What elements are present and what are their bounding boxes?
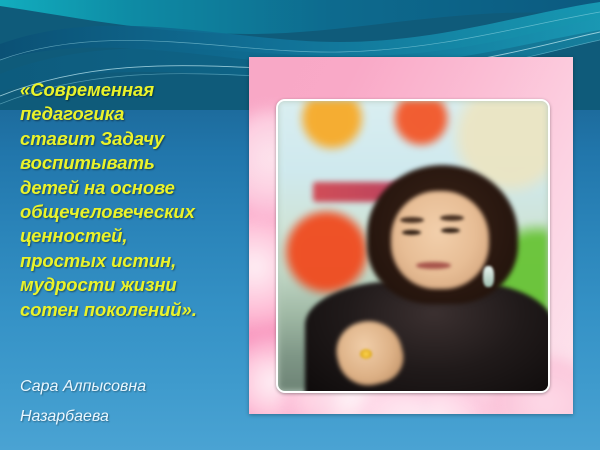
- quote-text: «Современная педагогика ставит Задачу во…: [20, 78, 252, 322]
- subject-face: [391, 191, 488, 290]
- quote-line: ценностей,: [20, 224, 252, 248]
- quote-attribution: Сара Алпысовна Назарбаева: [20, 372, 250, 431]
- quote-line: мудрости жизни: [20, 273, 252, 297]
- quote-line: педагогика: [20, 102, 252, 126]
- attribution-line: Назарбаева: [20, 402, 250, 432]
- subject-eye: [441, 228, 460, 233]
- quote-line: сотен поколений».: [20, 298, 252, 322]
- subject-ring: [360, 349, 372, 359]
- portrait-photo: [276, 99, 550, 393]
- presentation-slide: «Современная педагогика ставит Задачу во…: [0, 0, 600, 450]
- subject-eyebrow: [400, 217, 424, 223]
- quote-line: «Современная: [20, 78, 252, 102]
- subject-earring: [483, 266, 494, 286]
- quote-line: детей на основе: [20, 176, 252, 200]
- quote-line: простых истин,: [20, 249, 252, 273]
- quote-line: ставит Задачу: [20, 127, 252, 151]
- subject-eye: [402, 230, 421, 235]
- portrait-frame: [249, 57, 573, 414]
- quote-line: общечеловеческих: [20, 200, 252, 224]
- attribution-line: Сара Алпысовна: [20, 372, 250, 402]
- quote-line: воспитывать: [20, 151, 252, 175]
